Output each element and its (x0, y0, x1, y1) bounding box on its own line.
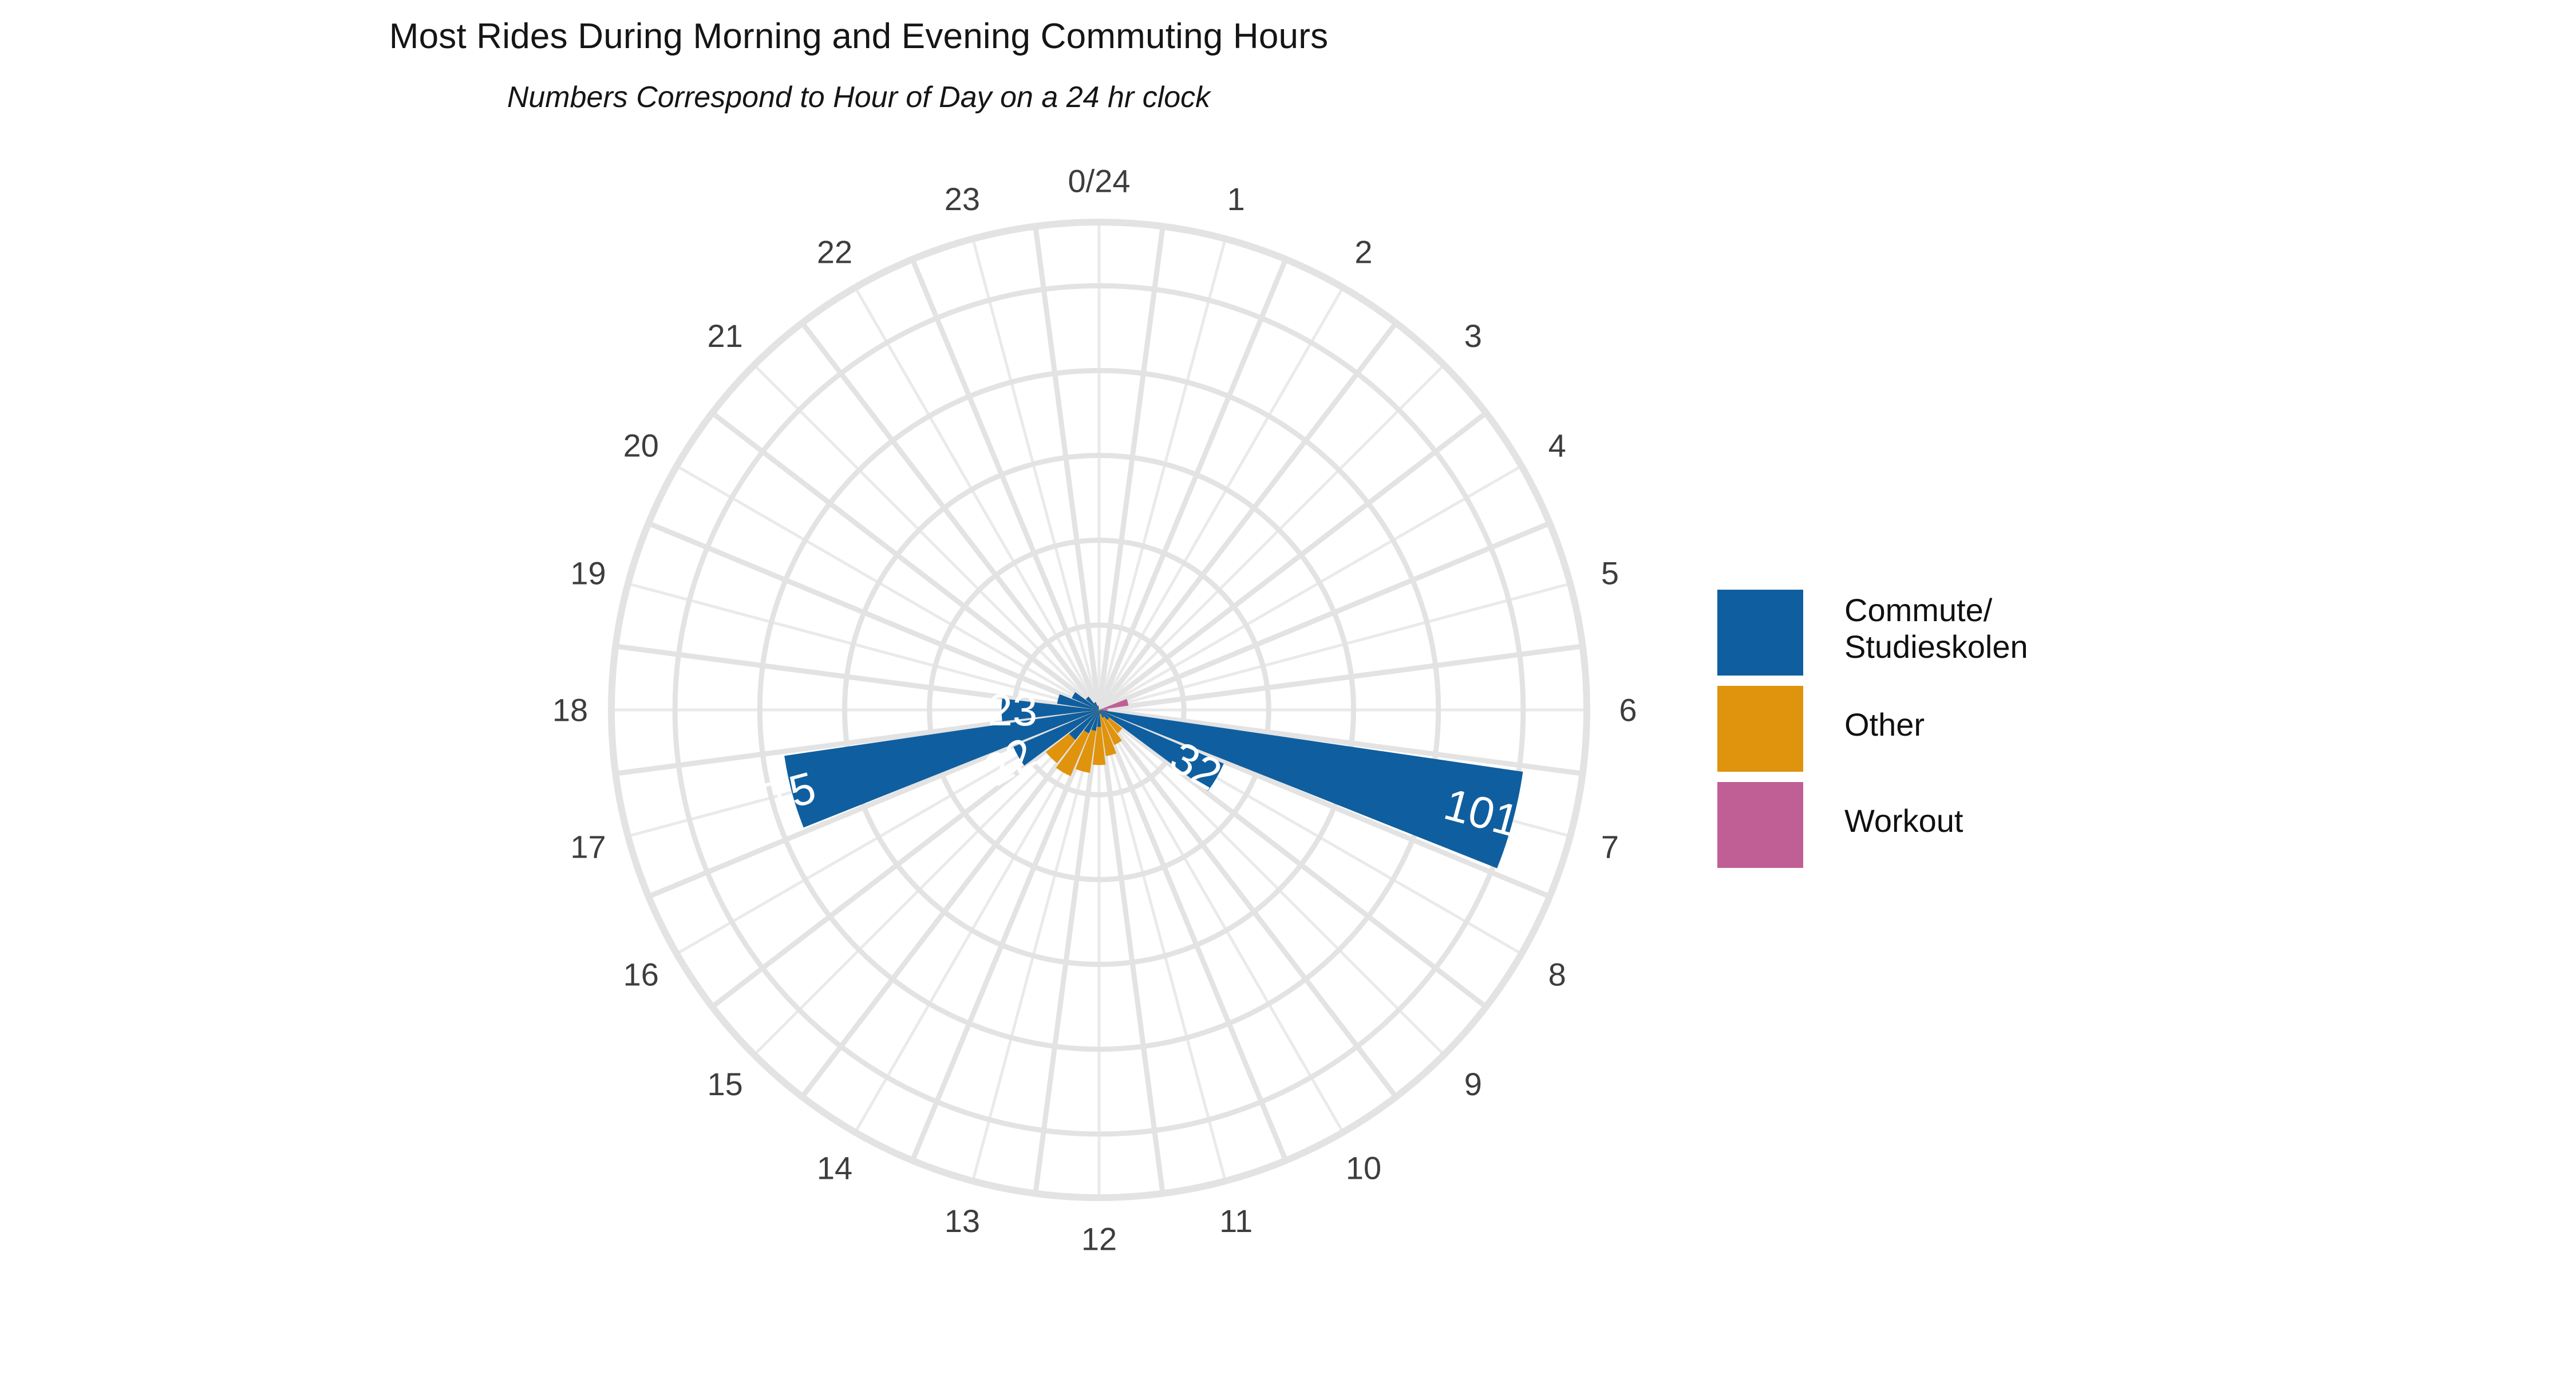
angular-tick-label: 3 (1464, 318, 1482, 354)
legend-label-other: Other (1844, 686, 1925, 743)
legend-label-workout: Workout (1844, 782, 1963, 839)
angular-tick-label: 1 (1227, 181, 1245, 217)
legend-item-workout[interactable]: Workout (1717, 782, 2347, 868)
polar-chart: 10132227523 0/24123456789101112131415161… (0, 0, 1717, 1374)
legend-swatch-workout (1717, 782, 1803, 868)
legend-label-commute: Commute/ Studieskolen (1844, 590, 2028, 665)
angular-tick-label: 22 (817, 234, 852, 270)
angular-tick-label: 11 (1219, 1203, 1253, 1239)
angular-tick-label: 12 (1081, 1221, 1117, 1257)
legend-item-other[interactable]: Other (1717, 686, 2347, 772)
angular-tick-label: 6 (1619, 692, 1637, 728)
angular-tick-label: 21 (707, 318, 742, 354)
angular-tick-label: 18 (552, 692, 588, 728)
legend: Commute/ Studieskolen Other Workout (1717, 590, 2347, 878)
angular-tick-label: 4 (1548, 428, 1566, 464)
polar-chart-svg: 10132227523 0/24123456789101112131415161… (0, 0, 1717, 1374)
angular-tick-label: 17 (570, 829, 606, 865)
bar-value-label: 23 (988, 685, 1038, 735)
legend-swatch-commute (1717, 590, 1803, 676)
angular-tick-label: 14 (817, 1150, 852, 1186)
angular-tick-label: 13 (945, 1203, 980, 1239)
angular-tick-label: 8 (1548, 957, 1566, 993)
legend-swatch-other (1717, 686, 1803, 772)
angular-tick-label: 7 (1601, 829, 1619, 865)
legend-item-commute[interactable]: Commute/ Studieskolen (1717, 590, 2347, 676)
angular-tick-label: 5 (1601, 555, 1619, 591)
angular-tick-label: 15 (707, 1066, 742, 1102)
angular-tick-label: 23 (945, 181, 980, 217)
angular-tick-label: 20 (623, 428, 659, 464)
angular-tick-label: 19 (570, 555, 606, 591)
angular-tick-label: 10 (1346, 1150, 1381, 1186)
angular-tick-label: 9 (1464, 1066, 1482, 1102)
chart-page: Most Rides During Morning and Evening Co… (0, 0, 2576, 1374)
angular-tick-label: 16 (623, 957, 659, 993)
angular-tick-label: 0/24 (1068, 163, 1131, 199)
angular-tick-label: 2 (1354, 234, 1372, 270)
